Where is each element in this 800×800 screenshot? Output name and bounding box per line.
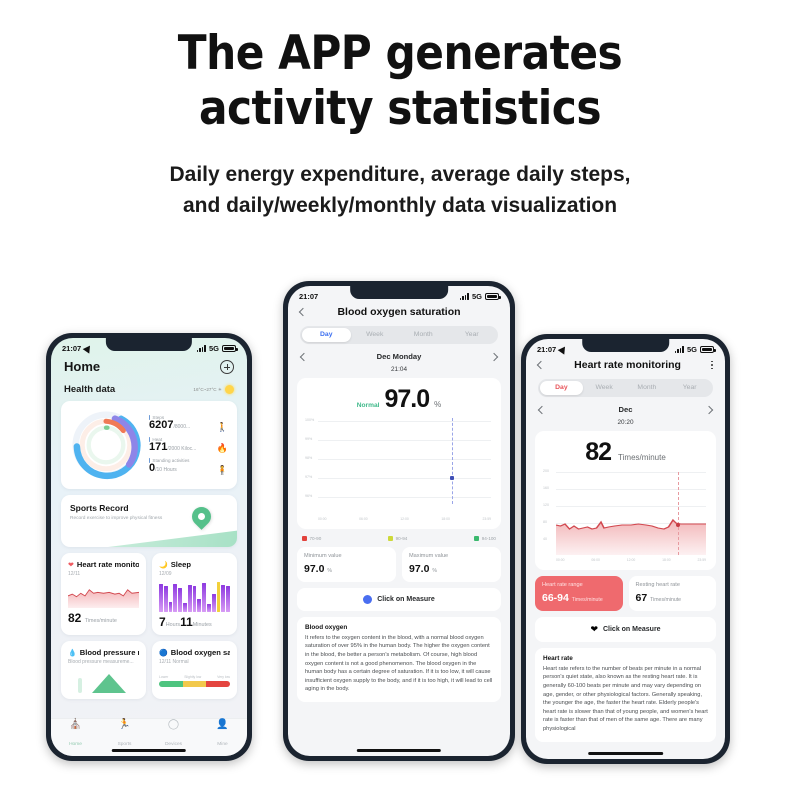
- phone-heart-rate-screen: 21:07 5G Heart rate monitoring Day Week …: [521, 334, 730, 764]
- x-tick: 06:00: [359, 517, 368, 521]
- location-arrow-icon: [83, 343, 94, 353]
- weather-temp: 16°C~27°C ☀: [193, 387, 222, 393]
- stat-label: Resting heart rate: [636, 582, 710, 590]
- x-tick: 00:00: [318, 517, 327, 521]
- tab-label: Mine: [217, 742, 227, 747]
- blood-oxygen-panel: Normal 97.0 % 100% 99% 98% 97% 96% 00:00…: [297, 378, 501, 529]
- y-tick: 98%: [305, 456, 312, 460]
- y-tick: 160: [543, 486, 549, 490]
- sleep-bars-chart: [159, 582, 230, 612]
- blood-oxygen-article: Blood oxygen It refers to the oxygen con…: [297, 617, 501, 703]
- stat-unit: Times/minute: [650, 597, 681, 603]
- measure-button[interactable]: ❤ Click on Measure: [535, 617, 716, 642]
- legend-item-mid: 90-94: [388, 536, 407, 541]
- reading-time: 21:04: [288, 366, 510, 373]
- prev-date-icon[interactable]: [300, 352, 308, 360]
- x-tick: 23:59: [483, 517, 492, 521]
- stat-value: 97.0: [304, 563, 324, 575]
- y-tick: 96%: [305, 494, 312, 498]
- stat-unit: Times/minute: [572, 597, 603, 603]
- tab-label: Home: [69, 742, 82, 747]
- x-tick: 00:00: [556, 558, 565, 562]
- heart-rate-stats: Heart rate range 66-94 Times/minute Rest…: [526, 570, 725, 611]
- card-sleep[interactable]: 🌙 Sleep 12/09 7Hours11Minutes: [152, 553, 237, 635]
- card-unit: Hours: [166, 622, 180, 628]
- weather-info: 16°C~27°C ☀: [193, 385, 234, 394]
- status-time: 21:07: [62, 344, 81, 353]
- activity-rings-chart: [70, 409, 142, 481]
- status-time: 21:07: [537, 345, 556, 354]
- phone-notch: [106, 338, 192, 351]
- tab-devices[interactable]: ◯ Devices: [149, 720, 198, 750]
- stat-label: Maximum value: [409, 553, 494, 561]
- period-segmented-control: Day Week Month Year: [538, 379, 713, 397]
- status-badge: Normal: [357, 402, 380, 409]
- phone-home-screen: 21:07 5G Home Health data 16°C~27°C ☀: [46, 333, 252, 761]
- reading-unit: Times/minute: [618, 453, 666, 462]
- tab-mine[interactable]: 👤 Mine: [198, 720, 247, 750]
- stat-minimum: Minimum value 97.0 %: [297, 547, 396, 582]
- y-tick: 120: [543, 503, 549, 507]
- stat-unit: %: [327, 568, 332, 574]
- page-title: Blood oxygen saturation: [306, 306, 492, 318]
- add-button[interactable]: [220, 360, 234, 374]
- navigation-bar: Heart rate monitoring: [526, 356, 725, 377]
- article-body: Heart rate refers to the number of beats…: [543, 665, 708, 734]
- card-unit: Times/minute: [85, 618, 117, 624]
- battery-icon: [485, 293, 499, 300]
- segment-week[interactable]: Week: [583, 381, 626, 395]
- phone-notch: [350, 286, 448, 299]
- y-tick: 99%: [305, 437, 312, 441]
- data-point-marker: [450, 476, 454, 480]
- segment-year[interactable]: Year: [448, 328, 497, 342]
- article-body: It refers to the oxygen content in the b…: [305, 634, 493, 695]
- kebab-menu-icon[interactable]: [711, 361, 713, 370]
- blood-oxygen-chart: 100% 99% 98% 97% 96%: [305, 418, 493, 514]
- metric-unit: /10 Hours: [155, 467, 177, 473]
- health-data-section-header: Health data 16°C~27°C ☀: [51, 374, 247, 401]
- reading-unit: %: [434, 400, 441, 409]
- metric-value: 171: [149, 441, 167, 453]
- prev-date-icon[interactable]: [538, 405, 546, 413]
- sun-icon: [225, 385, 234, 394]
- stat-label: Minimum value: [304, 553, 389, 561]
- x-tick: 18:00: [662, 558, 671, 562]
- standing-person-icon: 🧍: [217, 466, 228, 475]
- date-navigator: Dec Monday: [288, 344, 510, 363]
- heart-rate-article: Heart rate Heart rate refers to the numb…: [535, 648, 716, 742]
- card-blood-pressure[interactable]: 💧 Blood pressure mor Blood pressure meas…: [61, 641, 146, 699]
- measure-button[interactable]: Click on Measure: [297, 588, 501, 611]
- tab-home[interactable]: ⛪ Home: [51, 720, 100, 750]
- metric-heat: Heat 171/2000 Kiloc... 🔥: [149, 437, 228, 454]
- stat-maximum: Maximum value 97.0 %: [402, 547, 501, 582]
- sports-record-card[interactable]: Sports Record Record exercise to improve…: [61, 495, 237, 547]
- sports-icon: 🏃: [100, 720, 149, 730]
- battery-icon: [700, 346, 714, 353]
- activity-rings-card[interactable]: Steps 6207/8000... 🚶 Heat 171/2000 Kiloc…: [61, 401, 237, 489]
- x-tick: 06:00: [591, 558, 600, 562]
- scale-label-2: Very low: [217, 675, 230, 679]
- location-arrow-icon: [558, 344, 569, 354]
- metric-standing: Standing activities 0/10 Hours 🧍: [149, 458, 228, 475]
- segment-year[interactable]: Year: [668, 381, 711, 395]
- card-desc: Blood pressure measureme...: [68, 659, 139, 665]
- x-tick: 23:59: [698, 558, 707, 562]
- health-cards-grid: ❤ Heart rate monitoring 12/11 82 Times/m…: [51, 553, 247, 699]
- home-icon: ⛪: [51, 720, 100, 730]
- card-heart-rate[interactable]: ❤ Heart rate monitoring 12/11 82 Times/m…: [61, 553, 146, 635]
- stat-unit: %: [432, 568, 437, 574]
- heart-measure-icon: ❤: [590, 624, 598, 635]
- segment-week[interactable]: Week: [351, 328, 400, 342]
- blood-oxygen-scale: Lower Slightly low Very low: [159, 675, 230, 687]
- y-tick: 97%: [305, 475, 312, 479]
- battery-icon: [222, 345, 236, 352]
- x-axis-labels: 00:00 06:00 12:00 18:00 23:59: [543, 555, 708, 562]
- profile-icon: 👤: [198, 720, 247, 730]
- date-navigator: Dec: [526, 397, 725, 416]
- blue-circle-icon: 🔵: [159, 649, 168, 657]
- y-tick: 80: [543, 520, 547, 524]
- network-label: 5G: [209, 344, 219, 353]
- stat-value: 67: [636, 592, 648, 604]
- card-title: Blood pressure mor: [80, 648, 139, 657]
- tab-label: Devices: [165, 742, 182, 747]
- measure-label: Click on Measure: [377, 596, 435, 603]
- home-indicator: [357, 749, 441, 752]
- chart-legend: 70-90 90-94 94-100: [288, 529, 510, 541]
- map-graphic: [61, 525, 237, 547]
- subhead-line2: and daily/weekly/monthly data visualizat…: [0, 190, 800, 222]
- card-date: 12/09: [159, 571, 230, 577]
- card-unit2: Minutes: [193, 622, 212, 628]
- tab-label: Sports: [118, 742, 132, 747]
- next-date-icon[interactable]: [705, 405, 713, 413]
- subhead-line1: Daily energy expenditure, average daily …: [0, 159, 800, 191]
- segment-month[interactable]: Month: [399, 328, 448, 342]
- period-segmented-control: Day Week Month Year: [300, 326, 498, 344]
- legend-label: 90-94: [396, 536, 408, 541]
- reading-value: 97.0: [384, 385, 429, 414]
- stat-resting-heart-rate: Resting heart rate 67 Times/minute: [629, 576, 717, 611]
- card-title: Heart rate monitoring: [77, 560, 139, 569]
- stat-heart-rate-range: Heart rate range 66-94 Times/minute: [535, 576, 623, 611]
- card-date: 12/11 Normal: [159, 659, 230, 665]
- x-tick: 12:00: [400, 517, 409, 521]
- current-date: Dec Monday: [377, 352, 422, 361]
- phone-notch: [582, 339, 670, 352]
- status-time: 21:07: [299, 292, 318, 301]
- card-blood-oxygen[interactable]: 🔵 Blood oxygen satur 12/11 Normal Lower …: [152, 641, 237, 699]
- measure-icon: [363, 595, 372, 604]
- page-title: Heart rate monitoring: [544, 359, 711, 371]
- stat-label: Heart rate range: [542, 582, 616, 590]
- legend-label: 94-100: [482, 536, 496, 541]
- heart-rate-sparkline: [68, 582, 139, 608]
- navigation-bar: Blood oxygen saturation: [288, 303, 510, 324]
- heart-icon: ❤: [68, 561, 74, 569]
- legend-item-low: 70-90: [302, 536, 321, 541]
- stat-value: 66-94: [542, 592, 569, 604]
- reading-value: 82: [585, 438, 611, 467]
- home-indicator: [588, 752, 664, 755]
- devices-icon: ◯: [149, 720, 198, 730]
- heart-rate-chart: 200 160 120 80 40: [543, 469, 708, 555]
- headline-block: The APP generates activity statistics Da…: [0, 0, 800, 222]
- x-tick: 18:00: [441, 517, 450, 521]
- signal-bars-icon: [460, 293, 469, 300]
- stat-value: 97.0: [409, 563, 429, 575]
- scale-label-0: Lower: [159, 675, 168, 679]
- blood-pressure-graphic: [68, 669, 139, 693]
- next-date-icon[interactable]: [490, 352, 498, 360]
- current-date: Dec: [619, 405, 633, 414]
- legend-label: 70-90: [310, 536, 322, 541]
- metric-steps: Steps 6207/8000... 🚶: [149, 415, 228, 432]
- y-tick: 40: [543, 537, 547, 541]
- home-indicator: [112, 749, 186, 752]
- metric-unit: /2000 Kiloc...: [167, 446, 196, 452]
- article-title: Blood oxygen: [305, 624, 493, 631]
- x-tick: 12:00: [627, 558, 636, 562]
- signal-bars-icon: [197, 345, 206, 352]
- scale-label-1: Slightly low: [184, 675, 201, 679]
- legend-item-high: 94-100: [474, 536, 496, 541]
- card-value: 7: [159, 615, 166, 629]
- metric-value: 6207: [149, 419, 173, 431]
- article-title: Heart rate: [543, 655, 708, 662]
- headline-line2: activity statistics: [0, 81, 800, 136]
- headline-line1: The APP generates: [0, 26, 800, 81]
- x-axis-labels: 00:00 06:00 12:00 18:00 23:59: [305, 514, 493, 521]
- page-title: Home: [64, 359, 100, 374]
- card-value: 82: [68, 611, 81, 625]
- network-label: 5G: [687, 345, 697, 354]
- minmax-stats: Minimum value 97.0 % Maximum value 97.0 …: [288, 541, 510, 582]
- data-point-marker: [676, 523, 680, 527]
- segment-month[interactable]: Month: [626, 381, 669, 395]
- section-title: Health data: [64, 384, 115, 395]
- card-title: Sleep: [171, 560, 191, 569]
- flame-icon: 🔥: [217, 444, 228, 453]
- segment-day[interactable]: Day: [540, 381, 583, 395]
- card-value2: 11: [180, 615, 193, 629]
- heart-rate-panel: 82 Times/minute 200 160 120 80 40: [535, 431, 716, 570]
- phone-blood-oxygen-screen: 21:07 5G Blood oxygen saturation Day Wee…: [283, 281, 515, 761]
- y-tick: 200: [543, 469, 549, 473]
- network-label: 5G: [472, 292, 482, 301]
- signal-bars-icon: [675, 346, 684, 353]
- droplet-icon: 💧: [68, 649, 77, 657]
- segment-day[interactable]: Day: [302, 328, 351, 342]
- tab-sports[interactable]: 🏃 Sports: [100, 720, 149, 750]
- card-date: 12/11: [68, 571, 139, 577]
- moon-icon: 🌙: [159, 561, 168, 569]
- metric-unit: /8000...: [173, 424, 190, 430]
- walking-person-icon: 🚶: [217, 423, 228, 432]
- card-title: Blood oxygen satur: [171, 648, 230, 657]
- reading-time: 20:20: [526, 419, 725, 426]
- measure-label: Click on Measure: [603, 626, 661, 633]
- home-header: Home: [51, 355, 247, 374]
- y-tick: 100%: [305, 418, 314, 422]
